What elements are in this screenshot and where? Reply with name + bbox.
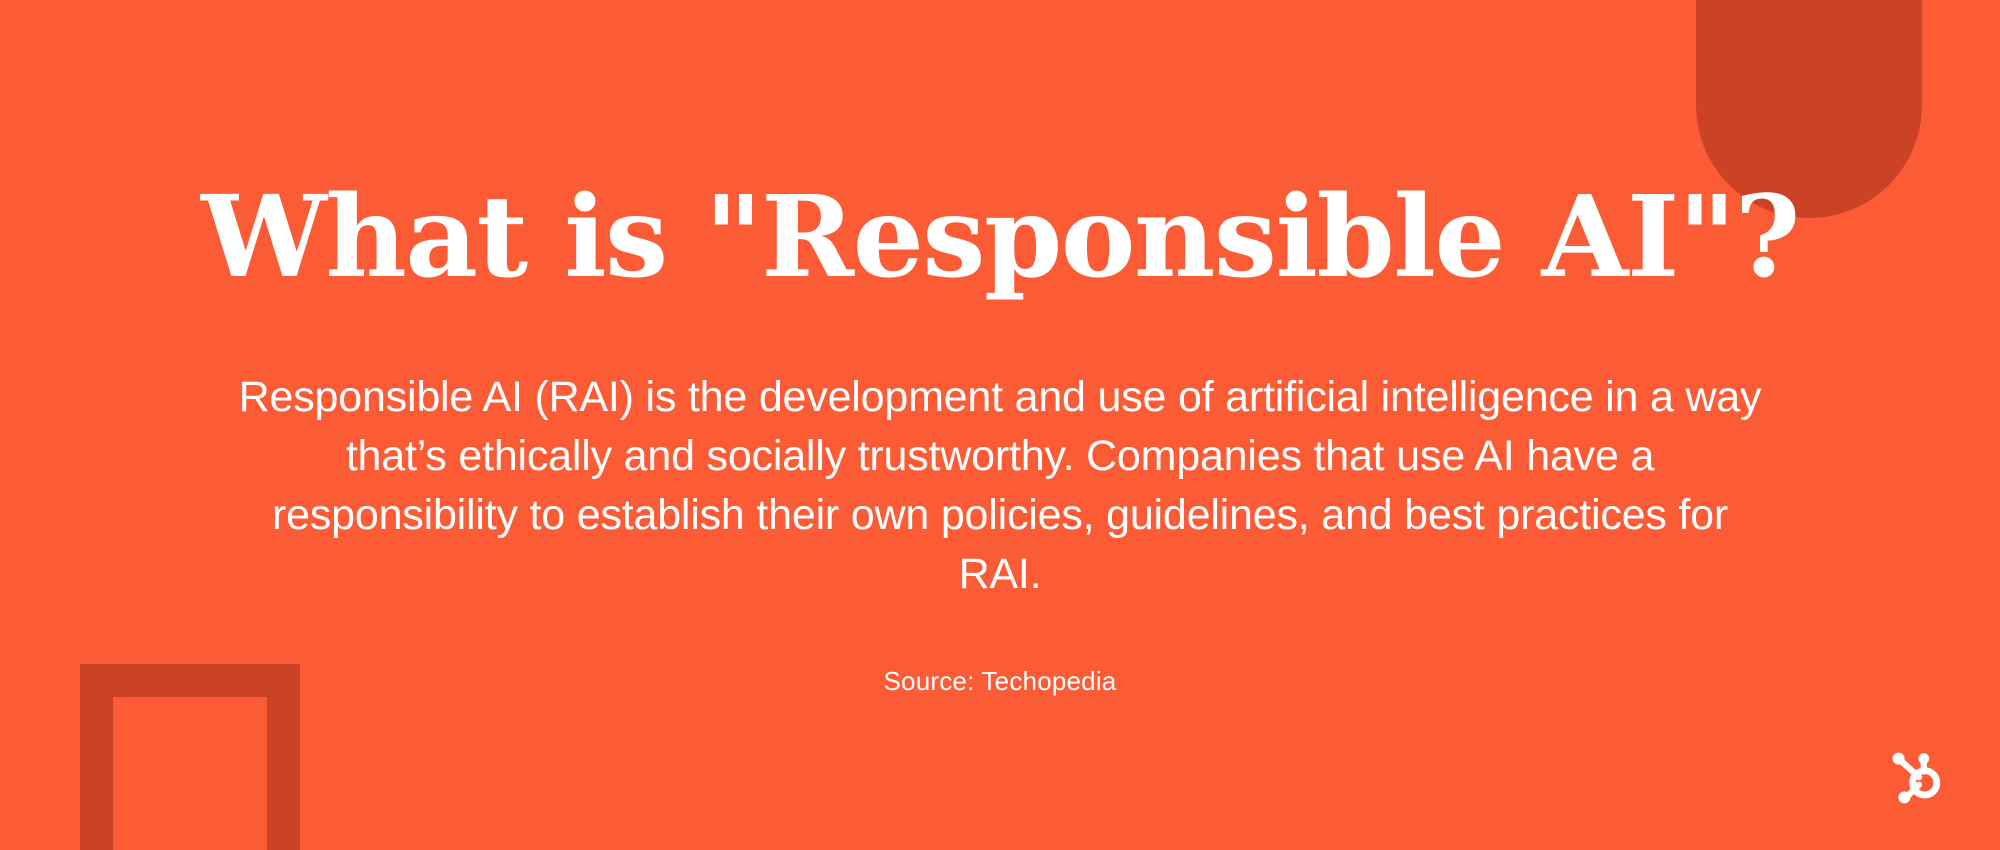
source-attribution: Source: Techopedia	[884, 666, 1117, 697]
slide-content: What is "Responsible AI"? Responsible AI…	[0, 0, 2000, 850]
body-paragraph: Responsible AI (RAI) is the development …	[235, 368, 1765, 604]
hubspot-sprocket-icon	[1886, 748, 1948, 810]
page-title: What is "Responsible AI"?	[100, 178, 1900, 299]
slide-canvas: What is "Responsible AI"? Responsible AI…	[0, 0, 2000, 850]
